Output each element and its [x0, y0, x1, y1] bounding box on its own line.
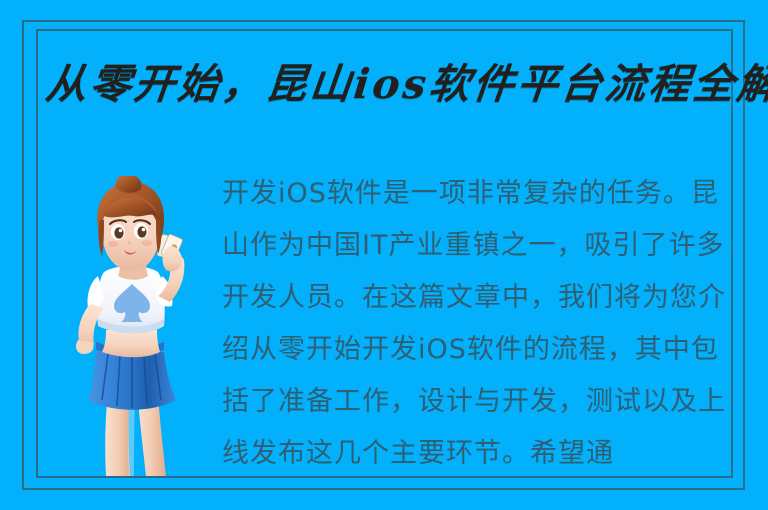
- page-title: 从零开始，昆山ios软件平台流程全解析: [43, 53, 730, 115]
- body-paragraph: 开发iOS软件是一项非常复杂的任务。昆山作为中国IT产业重镇之一，吸引了许多开发…: [222, 168, 734, 478]
- promo-banner: 从零开始，昆山ios软件平台流程全解析: [0, 0, 768, 510]
- anime-girl-illustration: [58, 176, 210, 478]
- head: [97, 176, 164, 271]
